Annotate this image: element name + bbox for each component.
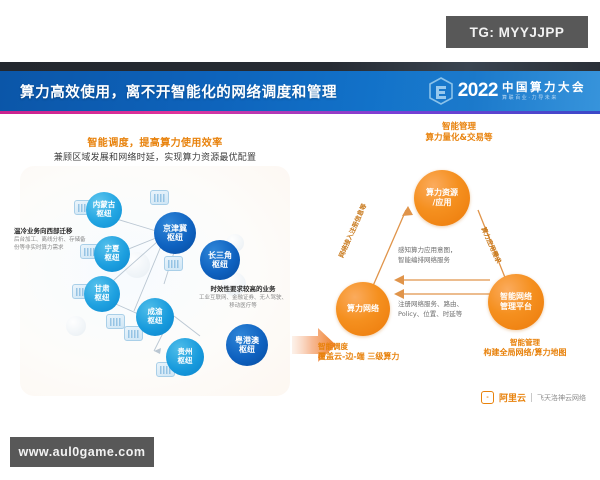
hub-label-line2: 枢纽 [167, 233, 183, 242]
divider [531, 393, 532, 402]
hub-node-gansu[interactable]: 甘肃 枢纽 [84, 276, 120, 312]
right-panel: 智能管理 算力量化&交易等 [318, 114, 600, 410]
watermark-top: TG: MYYJJPP [446, 16, 588, 48]
slide-top-bar [0, 62, 600, 71]
circle-label-line2: /应用 [433, 198, 452, 208]
slide-page: TG: MYYJJPP 算力高效使用，离不开智能化的网络调度和管理 2022 中… [0, 0, 600, 480]
brand-name: 阿里云 [499, 391, 526, 404]
annotation-east-detail: 工业互联网、金融证券、无人驾驶、移动医疗等 [198, 295, 288, 310]
hub-node-neimenggu[interactable]: 内蒙古 枢纽 [86, 192, 122, 228]
hub-label-line2: 枢纽 [97, 210, 112, 219]
hub-node-changsanjiao[interactable]: 长三角 枢纽 [200, 240, 240, 280]
hub-label-line2: 枢纽 [239, 345, 255, 354]
server-chip-icon [164, 256, 183, 271]
conference-logo: 2022 中国算力大会 算联百业·力导未来 [428, 71, 586, 111]
footer-brand: - 阿里云 飞天洛神云网络 [481, 391, 586, 404]
product-name: 飞天洛神云网络 [537, 393, 586, 403]
server-chip-icon [150, 190, 169, 205]
corner-right-line1: 智能管理 [450, 338, 600, 348]
hub-label-line2: 枢纽 [178, 357, 193, 366]
aliyun-logo-icon: - [481, 391, 494, 404]
annotation-west: 温冷业务向西部迁移 后台加工、离线分析、存储备份等非实时算力需求 [14, 228, 90, 252]
center-register-text: 注册网络服务、路由、 Policy、位置、时延等 [398, 300, 510, 320]
circle-label-line1: 算力网络 [347, 304, 379, 314]
hub-label-line2: 枢纽 [105, 254, 120, 263]
conference-tagline: 算联百业·力导未来 [502, 96, 586, 101]
watermark-bottom: www.aul0game.com [10, 437, 154, 467]
left-headline: 智能调度，提高算力使用效率 [14, 134, 296, 149]
circle-label-line1: 算力资源 [426, 188, 458, 198]
hub-label-line1: 长三角 [208, 251, 232, 260]
center-intent-line1: 感知算力应用意图， [398, 246, 510, 256]
presentation-slide: 算力高效使用，离不开智能化的网络调度和管理 2022 中国算力大会 算联百业·力… [0, 62, 600, 410]
hub-label-line2: 枢纽 [212, 260, 228, 269]
hub-network-graph: 内蒙古 枢纽 宁夏 枢纽 甘肃 枢纽 京津冀 枢纽 [14, 166, 296, 410]
right-top-label-line1: 智能管理 [318, 122, 600, 133]
hub-node-ningxia[interactable]: 宁夏 枢纽 [94, 236, 130, 272]
hub-label-line2: 枢纽 [95, 294, 110, 303]
hub-node-yuegangao[interactable]: 粤港澳 枢纽 [226, 324, 268, 366]
corner-right-line2: 构建全局网络/算力地图 [450, 348, 600, 359]
center-intent-line2: 智能编排网络服务 [398, 256, 510, 266]
annotation-east: 时效性要求较高的业务 工业互联网、金融证券、无人驾驶、移动医疗等 [198, 286, 288, 310]
annotation-east-title: 时效性要求较高的业务 [198, 286, 288, 294]
left-subline: 兼顾区域发展和网络时延，实现算力资源最优配置 [14, 150, 296, 163]
corner-left-line1: 智能调度 [318, 342, 399, 352]
circle-compute-resource[interactable]: 算力资源 /应用 [414, 170, 470, 226]
hub-node-chengyu[interactable]: 成渝 枢纽 [136, 298, 174, 336]
center-register-line1: 注册网络服务、路由、 [398, 300, 510, 310]
conference-name: 中国算力大会 [502, 82, 586, 94]
hub-label-line1: 粤港澳 [235, 336, 259, 345]
circle-compute-network[interactable]: 算力网络 [336, 282, 390, 336]
corner-label-right: 智能管理 构建全局网络/算力地图 [450, 338, 600, 359]
annotation-west-detail: 后台加工、离线分析、存储备份等非实时算力需求 [14, 237, 90, 252]
left-panel: 智能调度，提高算力使用效率 兼顾区域发展和网络时延，实现算力资源最优配置 [14, 114, 296, 410]
slide-title: 算力高效使用，离不开智能化的网络调度和管理 [20, 71, 337, 111]
hub-label-line1: 京津冀 [163, 224, 187, 233]
corner-label-left: 智能调度 覆盖云-边-端 三级算力 [318, 342, 399, 363]
slide-content: 智能调度，提高算力使用效率 兼顾区域发展和网络时延，实现算力资源最优配置 [0, 114, 600, 410]
hub-node-guizhou[interactable]: 贵州 枢纽 [166, 338, 204, 376]
annotation-west-title: 温冷业务向西部迁移 [14, 228, 90, 236]
hub-label-line2: 枢纽 [148, 317, 163, 326]
conference-year: 2022 [458, 80, 498, 102]
center-intent-text: 感知算力应用意图， 智能编排网络服务 [398, 246, 510, 266]
hexagon-cube-icon [428, 77, 454, 105]
right-top-label: 智能管理 算力量化&交易等 [318, 122, 600, 144]
corner-left-line2: 覆盖云-边-端 三级算力 [318, 352, 399, 363]
hub-node-jingjinji[interactable]: 京津冀 枢纽 [154, 212, 196, 254]
server-chip-icon [106, 314, 125, 329]
right-top-label-line2: 算力量化&交易等 [318, 133, 600, 144]
center-register-line2: Policy、位置、时延等 [398, 310, 510, 320]
